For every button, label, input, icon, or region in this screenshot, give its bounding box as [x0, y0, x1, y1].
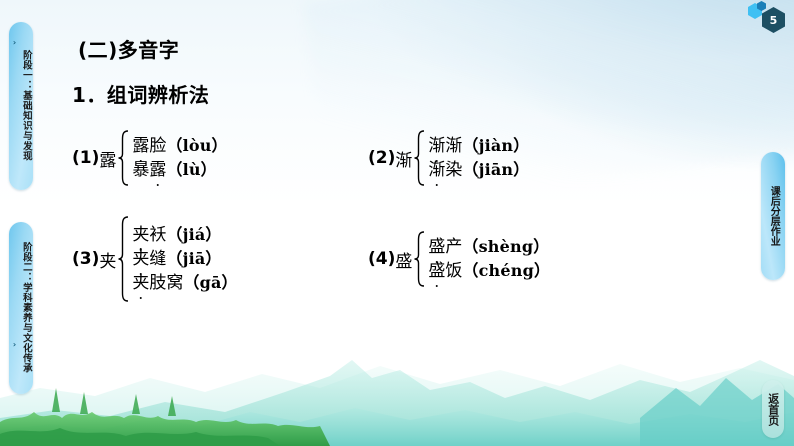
- page-number-value: 5: [770, 15, 778, 26]
- entry-4-branches: 盛产（shèng） 盛饭（chéng）: [428, 235, 550, 283]
- slide-content: (二)多音字 1．组词辨析法 (1) 露 露脸（lòu） 暴露（lù） (2): [48, 34, 738, 302]
- branch-pinyin: （jiā）: [166, 249, 221, 268]
- emphasis-char: 渐: [428, 134, 445, 158]
- hexagon-page-icon: 5: [762, 7, 785, 33]
- entry-2-branch-2: 渐染（jiān）: [428, 158, 529, 182]
- curly-brace-icon: [117, 216, 129, 302]
- emphasis-char: 露: [149, 158, 166, 182]
- branch-word: 缝: [149, 249, 166, 269]
- entry-2-branches: 渐渐（jiàn） 渐染（jiān）: [428, 134, 529, 182]
- branch-pinyin: （lù）: [166, 160, 217, 179]
- branch-word: 肢窝: [149, 273, 183, 293]
- page-title: (二)多音字: [78, 34, 738, 63]
- mountain-svg: [0, 326, 794, 446]
- branch-pinyin: （jiá）: [166, 225, 221, 244]
- emphasis-char: 露: [132, 134, 149, 158]
- entry-4-branch-2: 盛饭（chéng）: [428, 259, 550, 283]
- emphasis-char: 夹: [132, 247, 149, 271]
- branch-pinyin: （jiàn）: [462, 136, 529, 155]
- branch-word: 产: [445, 237, 462, 257]
- return-home-label: 返首页: [767, 393, 779, 426]
- page-number-badge: 5: [744, 1, 790, 37]
- branch-pinyin: （jiān）: [462, 160, 529, 179]
- entry-row-1: (1) 露 露脸（lòu） 暴露（lù） (2) 渐: [48, 130, 738, 186]
- entry-1-number: (1): [72, 148, 99, 168]
- entry-3-number: (3): [72, 249, 99, 269]
- branch-word: 渐: [445, 136, 462, 156]
- curly-brace-icon: [413, 231, 425, 287]
- entry-row-2: (3) 夹 夹袄（jiá） 夹缝（jiā） 夹肢窝（gā） (4) 盛: [48, 216, 738, 302]
- sidebar-item-homework-label: 课后分层作业: [768, 186, 779, 246]
- emphasis-char: 盛: [428, 259, 445, 283]
- slide-canvas: › 阶段一：基础知识与发现 › 阶段二：学科素养与文化传承 课后分层作业 返首页…: [0, 0, 794, 446]
- subsection-title: 1．组词辨析法: [72, 79, 738, 108]
- entry-4-branch-1: 盛产（shèng）: [428, 235, 550, 259]
- emphasis-char: 夹: [132, 223, 149, 247]
- entry-2-number: (2): [368, 148, 395, 168]
- branch-pinyin: （gā）: [183, 273, 237, 292]
- watercolor-mountain-decoration: [0, 326, 794, 446]
- curly-brace-icon: [413, 130, 425, 186]
- chevron-accent-icon: ›: [10, 340, 19, 349]
- branch-pinyin: （lòu）: [166, 136, 227, 155]
- chevron-accent-icon: ›: [10, 38, 19, 47]
- entry-3-branch-2: 夹缝（jiā）: [132, 247, 237, 271]
- branch-word: 脸: [149, 136, 166, 156]
- return-home-button[interactable]: 返首页: [762, 380, 784, 438]
- branch-word: 饭: [445, 261, 462, 281]
- sidebar-item-homework[interactable]: 课后分层作业: [761, 152, 785, 280]
- branch-pinyin: （chéng）: [462, 261, 550, 280]
- entry-4-number: (4): [368, 249, 395, 269]
- entry-4: (4) 盛 盛产（shèng） 盛饭（chéng）: [358, 216, 698, 302]
- entry-1: (1) 露 露脸（lòu） 暴露（lù）: [48, 130, 358, 186]
- entry-3-head: 夹: [99, 247, 116, 272]
- entry-3: (3) 夹 夹袄（jiá） 夹缝（jiā） 夹肢窝（gā）: [48, 216, 358, 302]
- branch-word: 袄: [149, 225, 166, 245]
- entry-1-branches: 露脸（lòu） 暴露（lù）: [132, 134, 227, 182]
- emphasis-char: 渐: [428, 158, 445, 182]
- entry-2-head: 渐: [395, 146, 412, 171]
- entry-1-branch-1: 露脸（lòu）: [132, 134, 227, 158]
- curly-brace-icon: [117, 130, 129, 186]
- entry-1-branch-2: 暴露（lù）: [132, 158, 227, 182]
- entry-3-branches: 夹袄（jiá） 夹缝（jiā） 夹肢窝（gā）: [132, 223, 237, 295]
- branch-word: 染: [445, 160, 462, 180]
- sidebar-item-stage-two[interactable]: › 阶段二：学科素养与文化传承: [9, 222, 33, 394]
- entry-2: (2) 渐 渐渐（jiàn） 渐染（jiān）: [358, 130, 698, 186]
- sidebar-item-stage-two-label: 阶段二：学科素养与文化传承: [21, 242, 31, 373]
- entry-3-branch-1: 夹袄（jiá）: [132, 223, 237, 247]
- sidebar-item-stage-one[interactable]: › 阶段一：基础知识与发现: [9, 22, 33, 190]
- branch-pinyin: （shèng）: [462, 237, 549, 256]
- branch-word: 暴: [132, 160, 149, 180]
- sidebar-item-stage-one-label: 阶段一：基础知识与发现: [21, 50, 31, 161]
- emphasis-char: 盛: [428, 235, 445, 259]
- emphasis-char: 夹: [132, 271, 149, 295]
- entry-2-branch-1: 渐渐（jiàn）: [428, 134, 529, 158]
- entry-1-head: 露: [99, 146, 116, 171]
- entry-3-branch-3: 夹肢窝（gā）: [132, 271, 237, 295]
- entry-4-head: 盛: [395, 247, 412, 272]
